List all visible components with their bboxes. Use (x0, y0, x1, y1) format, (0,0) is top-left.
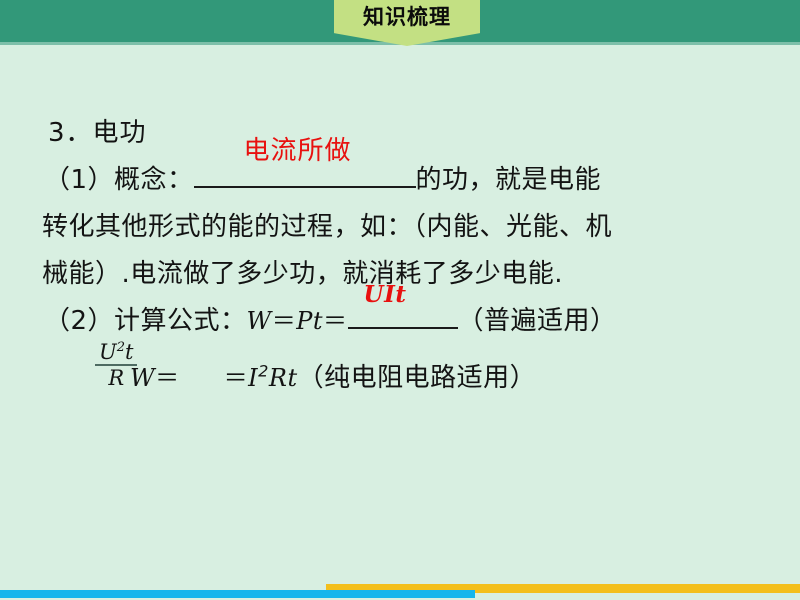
formula-line-2-text: W＝＝I2Rt（纯电阻电路适用） (130, 357, 536, 394)
fraction-numerator-u: U (99, 340, 117, 364)
concept-line-3: 械能）.电流做了多少功，就消耗了多少电能. (0, 251, 800, 298)
formula-line-1: （2）计算公式：W＝Pt＝UIt（普遍适用） (0, 298, 800, 345)
formula-note: （普遍适用） (458, 306, 617, 336)
banner-title: 知识梳理 (363, 0, 451, 34)
formula-line-2: U2t R W＝＝I2Rt（纯电阻电路适用） (0, 345, 800, 407)
formula-equals-2: ＝ (323, 307, 348, 335)
footer-bar-cyan (0, 590, 475, 598)
fraction-numerator-exponent: 2 (117, 340, 125, 355)
fraction-numerator-t: t (125, 340, 133, 364)
concept-line-2: 转化其他形式的能的过程，如：（内能、光能、机 (0, 204, 800, 251)
fraction-numerator: U2t (95, 341, 137, 363)
formula2-i: I (248, 364, 258, 392)
formula2-equals-1: ＝ (155, 364, 180, 392)
formula-pt: Pt (296, 307, 323, 335)
concept-label: （1）概念： (44, 165, 194, 195)
formula2-rt: Rt (269, 364, 298, 392)
formula-blank[interactable]: UIt (348, 299, 458, 329)
formula2-equals-2: ＝ (224, 364, 249, 392)
fraction-u2t-over-r: U2t R (95, 341, 137, 389)
concept-line: （1）概念：电流所做的功，就是电能 (0, 157, 800, 204)
formula-w: W (247, 307, 272, 335)
section-heading: 3．电功 (0, 110, 800, 157)
formula-equals-1: ＝ (272, 307, 297, 335)
formula-label: （2）计算公式： (44, 306, 247, 336)
concept-blank[interactable]: 电流所做 (194, 158, 416, 188)
formula2-i-exponent: 2 (258, 361, 269, 380)
slide-content: 3．电功 （1）概念：电流所做的功，就是电能 转化其他形式的能的过程，如：（内能… (0, 110, 800, 407)
formula2-note: （纯电阻电路适用） (298, 363, 537, 393)
fraction-denominator: R (95, 367, 137, 389)
concept-after-blank: 的功，就是电能 (416, 165, 602, 195)
